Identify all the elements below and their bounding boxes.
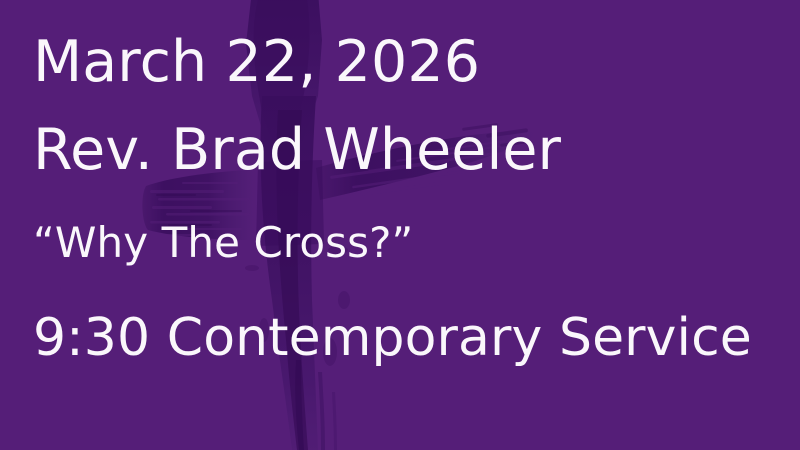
service-time-and-type: 9:30 Contemporary Service (33, 312, 752, 364)
service-date: March 22, 2026 (33, 34, 480, 91)
speaker-name: Rev. Brad Wheeler (33, 122, 561, 179)
sermon-title: “Why The Cross?” (33, 222, 413, 264)
slide-text-block: March 22, 2026 Rev. Brad Wheeler “Why Th… (0, 0, 800, 450)
worship-slide: March 22, 2026 Rev. Brad Wheeler “Why Th… (0, 0, 800, 450)
